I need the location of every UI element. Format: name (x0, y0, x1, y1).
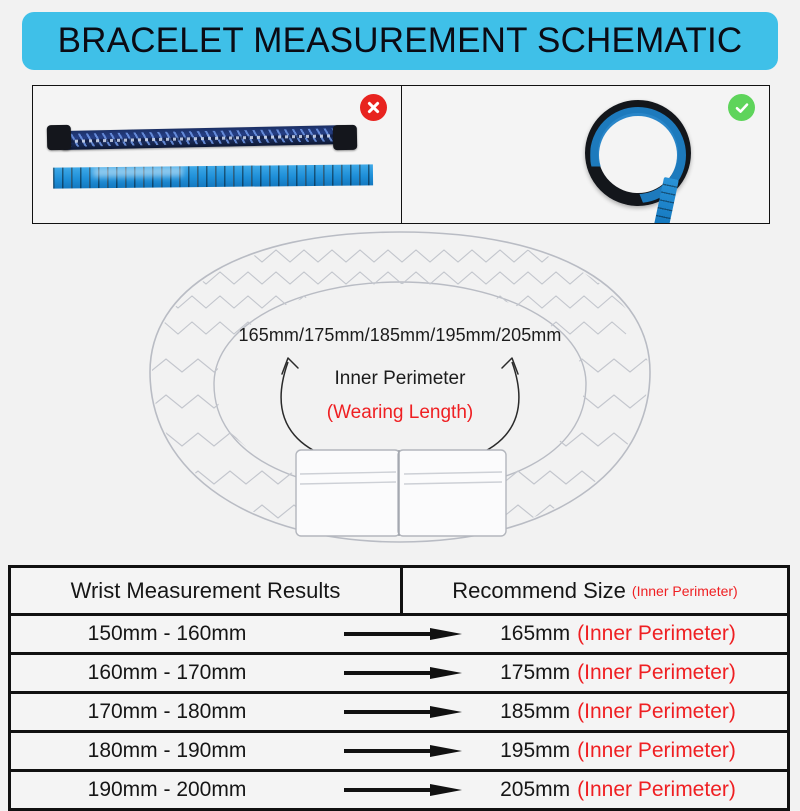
arrow-right-icon (344, 745, 462, 757)
bracelet-line-drawing (0, 222, 800, 567)
panel-incorrect-method (33, 86, 402, 223)
wearing-length-label: (Wearing Length) (0, 402, 800, 424)
cell-size-note: (Inner Perimeter) (577, 661, 736, 685)
tape-glare (93, 167, 183, 178)
arrow-right-icon (344, 628, 462, 640)
cell-size-value: 205mm (500, 778, 570, 802)
clasp-end-right (333, 125, 358, 150)
header-recommend-size: Recommend Size (Inner Perimeter) (403, 568, 787, 613)
table-row: 170mm - 180mm 185mm (Inner Perimeter) (11, 694, 787, 733)
cell-size-value: 195mm (500, 739, 570, 763)
header-recommend-size-main: Recommend Size (452, 578, 626, 604)
cell-size-note: (Inner Perimeter) (577, 700, 736, 724)
page-title: BRACELET MEASUREMENT SCHEMATIC (58, 21, 743, 61)
table-row: 180mm - 190mm 195mm (Inner Perimeter) (11, 733, 787, 772)
cell-size-note: (Inner Perimeter) (577, 622, 736, 646)
title-banner: BRACELET MEASUREMENT SCHEMATIC (22, 12, 778, 70)
bracelet-photo-flat (61, 125, 351, 150)
arrow-right-icon (344, 706, 462, 718)
header-recommend-size-sub: (Inner Perimeter) (632, 583, 738, 599)
cell-size-value: 165mm (500, 622, 570, 646)
cell-size-note: (Inner Perimeter) (577, 739, 736, 763)
inner-perimeter-label: Inner Perimeter (0, 368, 800, 390)
arrow-right-icon (344, 667, 462, 679)
size-chart-table: Wrist Measurement Results Recommend Size… (8, 565, 790, 811)
clasp-end-left (47, 125, 72, 150)
green-check-mark-icon (728, 94, 755, 121)
cell-size-note: (Inner Perimeter) (577, 778, 736, 802)
bracelet-schematic: 165mm/175mm/185mm/195mm/205mm Inner Peri… (0, 222, 800, 567)
comparison-panels (32, 85, 770, 224)
red-x-mark-icon (360, 94, 387, 121)
table-row: 160mm - 170mm 175mm (Inner Perimeter) (11, 655, 787, 694)
size-options-label: 165mm/175mm/185mm/195mm/205mm (0, 325, 800, 346)
table-header-row: Wrist Measurement Results Recommend Size… (11, 568, 787, 616)
cell-size-value: 175mm (500, 661, 570, 685)
panel-correct-method (402, 86, 770, 223)
arrow-right-icon (344, 784, 462, 796)
cell-size-value: 185mm (500, 700, 570, 724)
table-row: 150mm - 160mm 165mm (Inner Perimeter) (11, 616, 787, 655)
table-row: 190mm - 200mm 205mm (Inner Perimeter) (11, 772, 787, 808)
header-wrist-measurement: Wrist Measurement Results (11, 568, 403, 613)
